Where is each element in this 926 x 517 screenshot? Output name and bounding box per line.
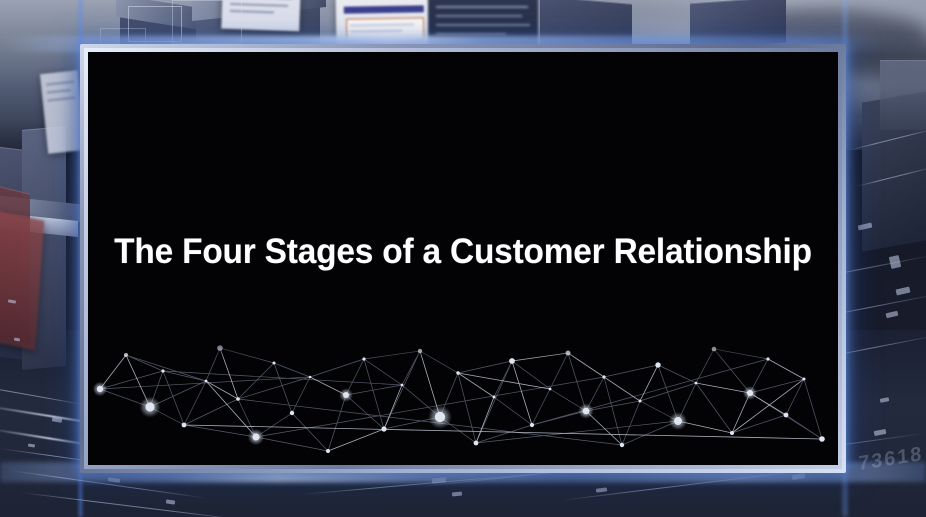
network-node (493, 396, 496, 399)
network-node (620, 443, 624, 447)
network-edge (750, 379, 804, 393)
network-edge (100, 371, 163, 389)
network-edge (274, 363, 292, 413)
network-node (273, 362, 276, 365)
network-edge (458, 361, 512, 373)
network-node (381, 426, 386, 431)
network-node (655, 362, 660, 367)
network-edge (184, 399, 238, 425)
network-node (161, 369, 164, 372)
network-edge (206, 381, 256, 437)
network-edge (184, 425, 256, 437)
network-node (803, 378, 806, 381)
network-edge (732, 379, 804, 433)
network-node (456, 371, 459, 374)
network-node (401, 384, 404, 387)
slide-title: The Four Stages of a Customer Relationsh… (105, 230, 821, 274)
network-edge (696, 383, 750, 393)
network-edge (310, 359, 364, 377)
network-edge (532, 359, 768, 425)
network-edge (100, 377, 310, 389)
network-edge (274, 363, 310, 377)
floor-marker (452, 492, 462, 497)
network-edge (512, 361, 532, 425)
network-node (747, 390, 753, 396)
network-node (583, 408, 590, 415)
network-edge (732, 415, 786, 433)
network-edge (458, 373, 550, 389)
network-node (252, 433, 259, 440)
network-node (674, 417, 682, 425)
network-edge (206, 381, 238, 399)
network-node (309, 376, 312, 379)
network-node (182, 423, 187, 428)
network-node (97, 386, 103, 392)
network-node (236, 397, 240, 401)
network-edge (768, 359, 804, 379)
network-node (639, 400, 642, 403)
presentation-slide[interactable]: The Four Stages of a Customer Relationsh… (88, 52, 838, 465)
network-node (474, 441, 479, 446)
network-node (549, 388, 552, 391)
network-edge (696, 383, 732, 433)
network-edge (364, 359, 384, 429)
network-node (730, 431, 734, 435)
network-edge (804, 379, 822, 439)
network-edge (786, 379, 804, 415)
network-node (819, 436, 825, 442)
network-node (205, 380, 208, 383)
network-edge (328, 429, 384, 451)
network-edge (364, 359, 402, 385)
network-node (145, 402, 154, 411)
network-edge (494, 397, 532, 425)
network-edge (604, 365, 658, 377)
network-node (784, 413, 789, 418)
structure-block (880, 60, 926, 130)
network-node (530, 423, 534, 427)
network-edge (184, 381, 206, 425)
network-node (435, 412, 445, 422)
network-edge (476, 397, 494, 443)
network-edge (494, 361, 512, 397)
network-edge (163, 371, 402, 385)
network-edge (346, 395, 384, 429)
network-edge (512, 361, 550, 389)
video-frame: 73618 The Four Stages of a Customer Rela… (0, 0, 926, 517)
network-node (326, 449, 330, 453)
network-edge (384, 385, 402, 429)
network-node (695, 382, 698, 385)
network-edge (163, 371, 184, 425)
network-node (602, 375, 605, 378)
network-node (290, 411, 294, 415)
network-edge (532, 389, 550, 425)
network-edge (640, 365, 658, 401)
network-node (343, 392, 349, 398)
network-graphic (88, 333, 838, 465)
network-edge (476, 361, 512, 443)
network-edge (640, 383, 696, 401)
